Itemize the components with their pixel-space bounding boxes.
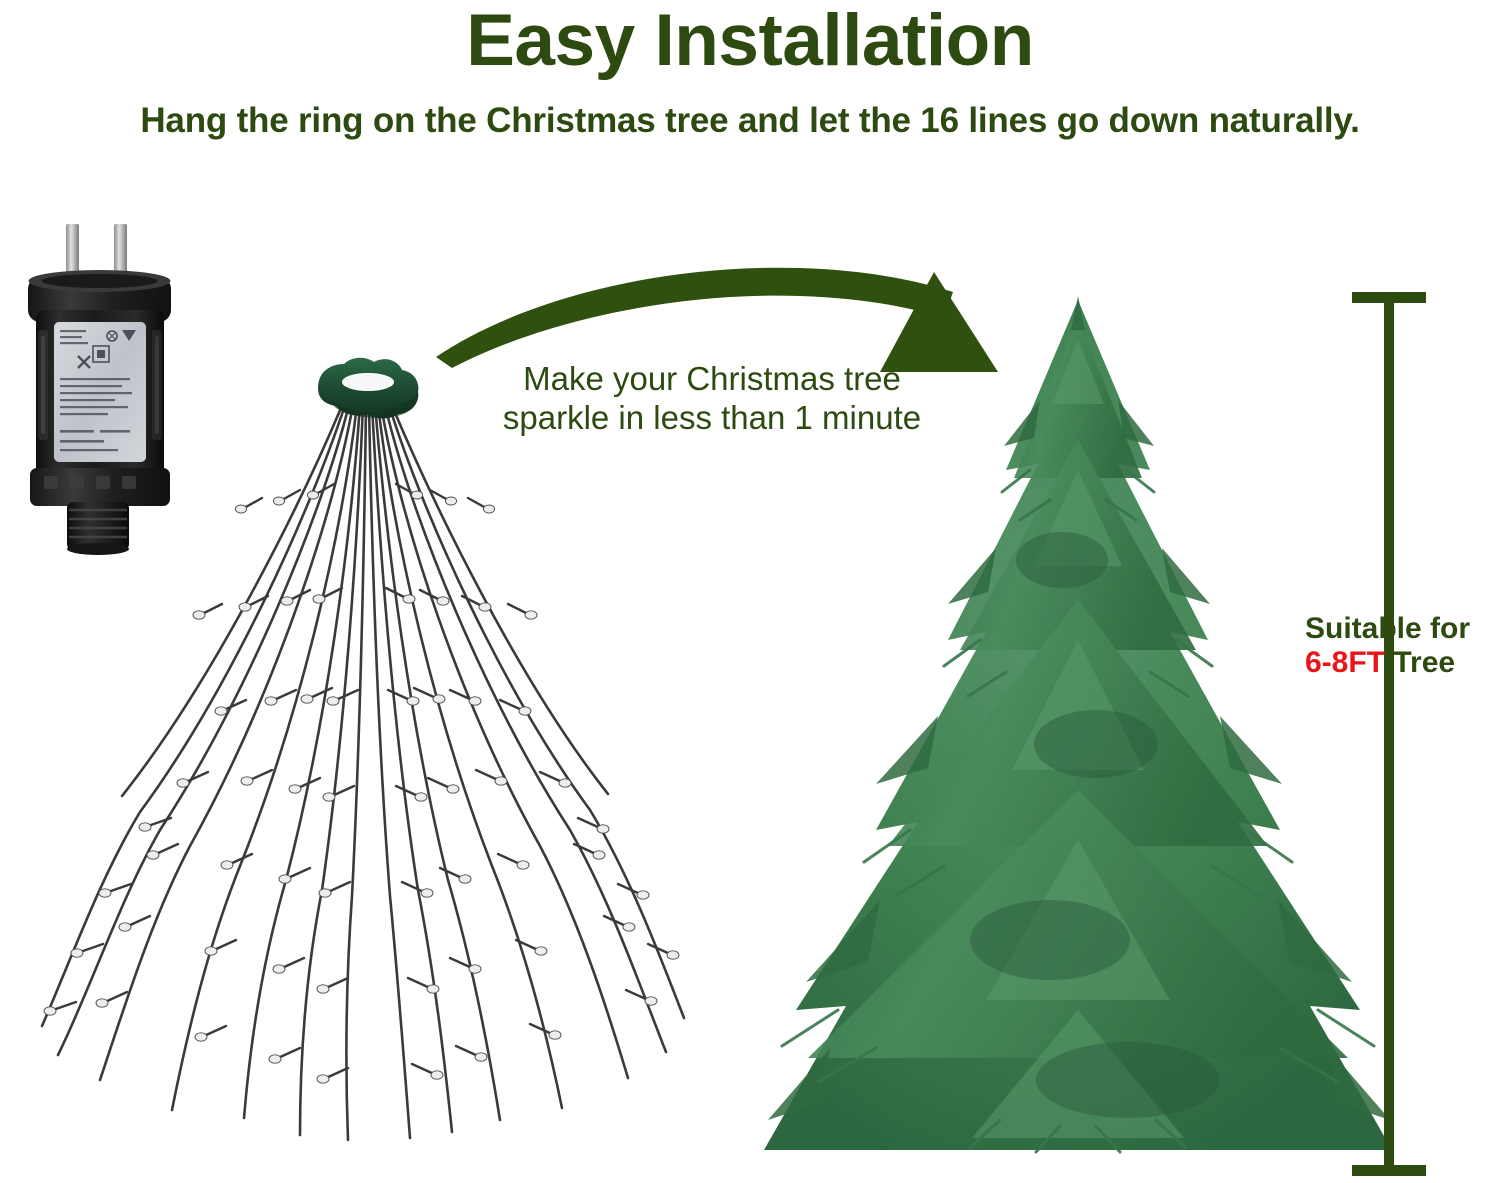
tree-size-suffix: Tree: [1385, 646, 1455, 679]
arrow-caption-line-2: sparkle in less than 1 minute: [462, 399, 962, 438]
page-subtitle: Hang the ring on the Christmas tree and …: [0, 103, 1500, 138]
tree-light-string-icon: [42, 358, 684, 1140]
arrow-caption-line-1: Make your Christmas tree: [523, 360, 901, 397]
tree-size-label-line-1: Suitable for: [1305, 612, 1500, 646]
green-hanging-ring-icon: [318, 358, 418, 419]
illustration-layer: [0, 0, 1500, 1183]
tree-size-label: Suitable for 6-8FT Tree: [1305, 612, 1500, 679]
infographic-canvas: Easy Installation Hang the ring on the C…: [0, 0, 1500, 1183]
arrow-caption: Make your Christmas tree sparkle in less…: [462, 360, 962, 437]
vertical-measure-bar-icon: [1352, 292, 1426, 1176]
page-title: Easy Installation: [0, 4, 1500, 77]
power-adapter-icon: [28, 224, 171, 555]
tree-size-value: 6-8FT: [1305, 646, 1385, 679]
curved-arrow-icon: [436, 268, 998, 372]
tree-size-label-line-2: 6-8FT Tree: [1305, 646, 1500, 680]
